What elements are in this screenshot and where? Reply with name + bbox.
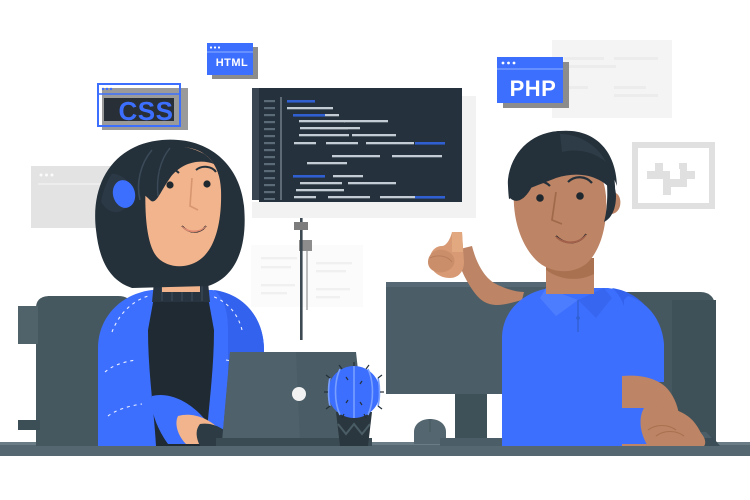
man-eye-left: [536, 194, 544, 202]
illustration-svg: [0, 0, 750, 500]
index-finger: [452, 232, 463, 252]
man-eye-right: [576, 192, 584, 200]
blue-tablet: [512, 408, 652, 444]
woman-eye-right: [203, 180, 210, 187]
css-window-badge: [98, 84, 188, 130]
open-book: [251, 240, 363, 310]
woman-eye-left: [166, 181, 173, 188]
php-window-badge: [497, 57, 569, 108]
background-window-right: [552, 40, 672, 118]
html-window-badge: [207, 43, 258, 79]
man-pointing-hand: [428, 232, 464, 278]
laptop-logo: [292, 387, 306, 401]
illustration-canvas: CSS HTML PHP: [0, 0, 750, 500]
pixel-logo-window: [635, 145, 712, 206]
